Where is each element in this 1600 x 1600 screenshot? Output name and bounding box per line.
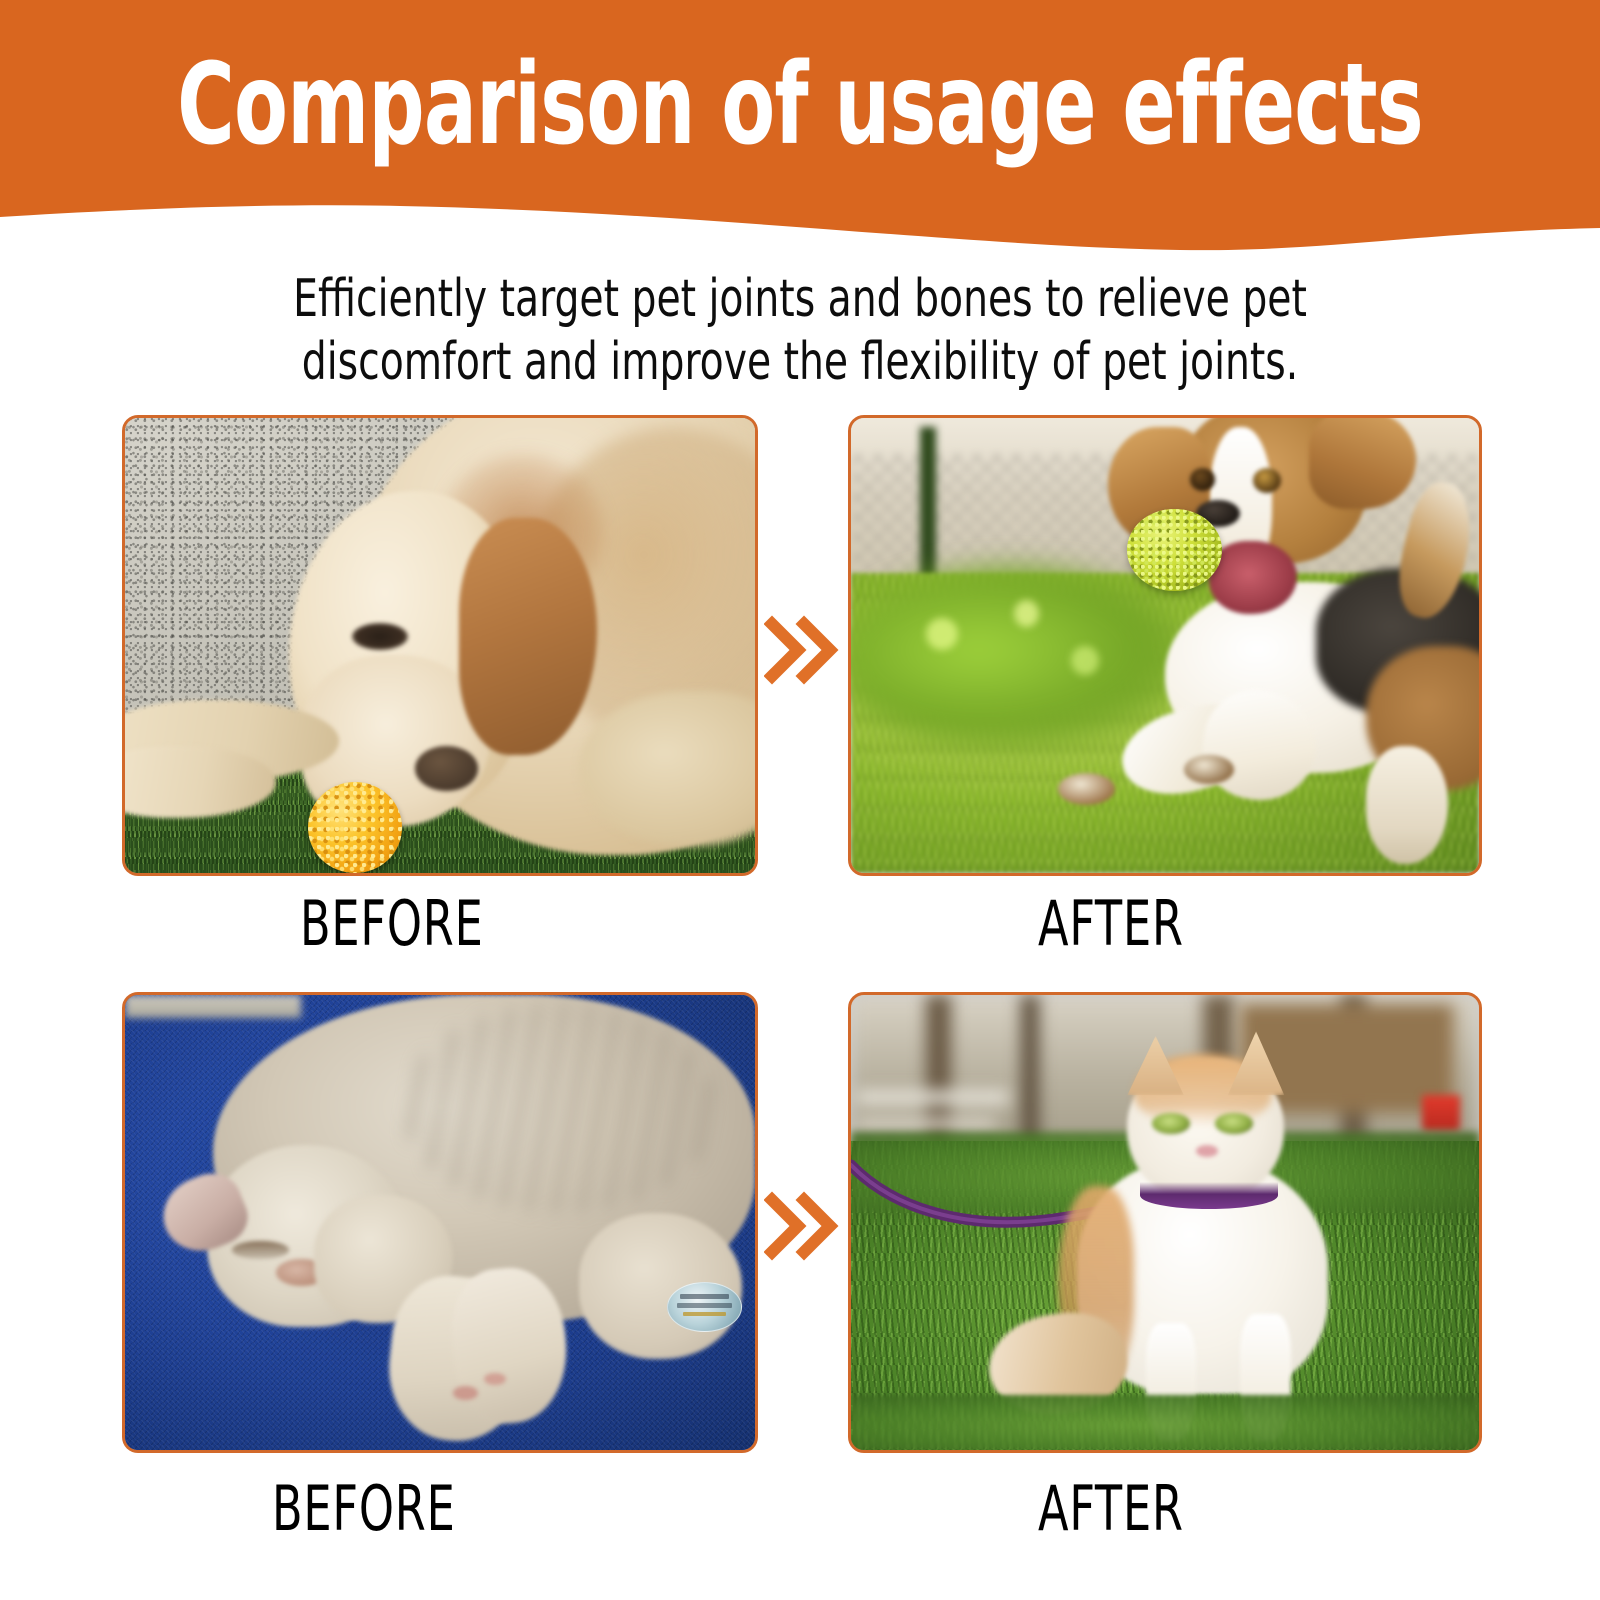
double-chevron-right-icon	[764, 614, 842, 686]
photo-panel-dog-after	[848, 415, 1482, 876]
double-chevron-right-icon	[764, 1190, 842, 1262]
scene-dog-after	[851, 418, 1479, 873]
header-banner: Comparison of usage effects	[0, 0, 1600, 270]
photo-panel-cat-before	[122, 992, 758, 1453]
caption-cat-after: AFTER	[1038, 1478, 1184, 1540]
photo-panel-cat-after	[848, 992, 1482, 1453]
arrow-cat-comparison	[764, 1190, 842, 1262]
scene-cat-after	[851, 995, 1479, 1450]
scene-dog-before	[125, 418, 755, 873]
scene-cat-before	[125, 995, 755, 1450]
carpet-sticker	[667, 1282, 743, 1332]
photo-panel-dog-before	[122, 415, 758, 876]
subtitle-line-2: discomfort and improve the flexibility o…	[254, 331, 1346, 394]
subtitle-text: Efficiently target pet joints and bones …	[254, 268, 1346, 395]
collar	[1140, 1182, 1278, 1209]
caption-cat-before: BEFORE	[272, 1478, 456, 1540]
caption-dog-before: BEFORE	[300, 893, 484, 955]
spiky-ball-orange	[308, 782, 403, 873]
subtitle-line-1: Efficiently target pet joints and bones …	[254, 268, 1346, 331]
caption-dog-after: AFTER	[1038, 893, 1184, 955]
spiky-ball-green	[1127, 509, 1221, 591]
page-title: Comparison of usage effects	[176, 46, 1424, 165]
arrow-dog-comparison	[764, 614, 842, 686]
